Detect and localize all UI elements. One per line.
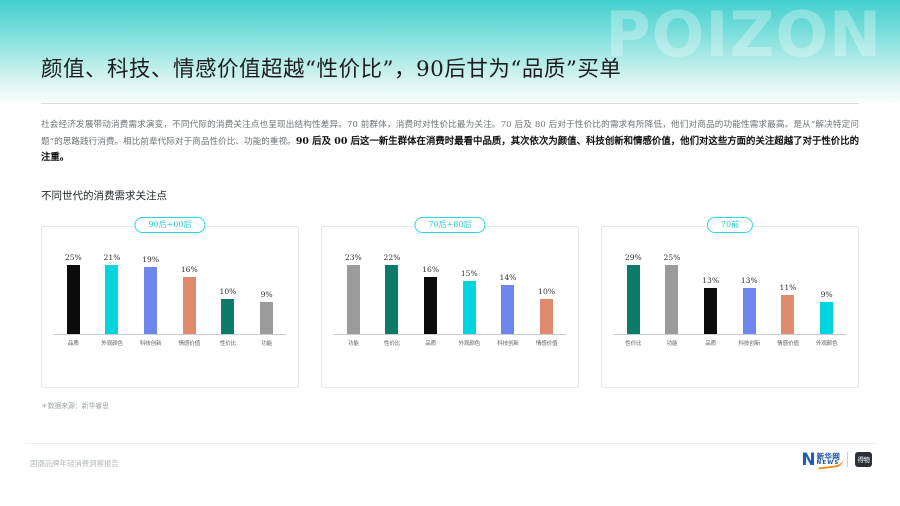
x-tick-label: 品质 <box>693 339 729 347</box>
x-axis-line-1 <box>334 334 566 335</box>
bar-value-label: 16% <box>181 265 198 274</box>
bar-rect <box>665 265 678 334</box>
x-tick-label: 性价比 <box>374 339 410 347</box>
footer-report-name: 国潮品牌年轻消费洞察报告 <box>30 458 119 469</box>
bar-value-label: 25% <box>664 253 681 262</box>
bar-rect <box>820 302 833 334</box>
bar-column: 14% <box>490 253 526 334</box>
chart-title-badge-0: 90后+00后 <box>134 217 205 233</box>
source-note: ＊数据来源：新华睿思 <box>41 400 109 410</box>
bar-column: 25% <box>654 253 690 334</box>
x-tick-label: 品质 <box>55 339 91 347</box>
bar-rect <box>540 299 553 334</box>
chart-plot-2: 29%25%13%13%11%9% 性价比功能品质科技创新情感价值外观颜色 <box>610 241 850 361</box>
bar-value-label: 14% <box>500 273 517 282</box>
bar-rect <box>743 288 756 334</box>
chart-title-badge-2: 70前 <box>707 217 753 233</box>
bar-value-label: 16% <box>422 265 439 274</box>
bar-group-1: 23%22%16%15%14%10% <box>334 253 566 334</box>
footer-divider <box>25 443 875 444</box>
x-axis-line-2 <box>614 334 846 335</box>
chart-card-90s-00s: 90后+00后 25%21%19%16%10%9% 品质外观颜色科技创新情感价值… <box>41 226 299 388</box>
x-tick-label: 科技创新 <box>490 339 526 347</box>
bar-rect <box>501 285 514 334</box>
bar-rect <box>105 265 118 334</box>
x-tick-labels-2: 性价比功能品质科技创新情感价值外观颜色 <box>614 339 846 353</box>
bar-column: 10% <box>210 253 246 334</box>
x-axis-line-0 <box>54 334 286 335</box>
bar-value-label: 13% <box>741 276 758 285</box>
bar-value-label: 10% <box>220 287 237 296</box>
chart-card-70s-80s: 70后+80后 23%22%16%15%14%10% 功能性价比品质外观颜色科技… <box>321 226 579 388</box>
x-tick-label: 外观颜色 <box>94 339 130 347</box>
bar-column: 9% <box>809 253 845 334</box>
bar-rect <box>260 302 273 334</box>
x-tick-label: 功能 <box>249 339 285 347</box>
section-heading: 不同世代的消费需求关注点 <box>41 188 167 203</box>
bar-rect <box>463 281 476 334</box>
bar-value-label: 13% <box>702 276 719 285</box>
bar-column: 21% <box>94 253 130 334</box>
bar-rect <box>627 265 640 334</box>
bar-column: 15% <box>451 253 487 334</box>
bar-value-label: 9% <box>261 290 273 299</box>
x-tick-label: 情感价值 <box>529 339 565 347</box>
logo-separator <box>847 452 848 467</box>
bar-column: 13% <box>693 253 729 334</box>
chart-title-badge-1: 70后+80后 <box>414 217 485 233</box>
bar-value-label: 15% <box>461 269 478 278</box>
x-tick-label: 情感价值 <box>770 339 806 347</box>
bar-rect <box>183 277 196 334</box>
charts-row: 90后+00后 25%21%19%16%10%9% 品质外观颜色科技创新情感价值… <box>41 226 859 391</box>
bar-column: 16% <box>413 253 449 334</box>
bar-value-label: 21% <box>104 253 121 262</box>
bar-column: 10% <box>529 253 565 334</box>
bar-column: 29% <box>615 253 651 334</box>
xinhuanet-logo: N 新华网 NEWS <box>801 453 840 467</box>
bar-rect <box>144 267 157 334</box>
x-tick-label: 性价比 <box>615 339 651 347</box>
bar-value-label: 25% <box>65 253 82 262</box>
bar-value-label: 19% <box>142 255 159 264</box>
bar-column: 23% <box>335 253 371 334</box>
bar-group-2: 29%25%13%13%11%9% <box>614 253 846 334</box>
bar-rect <box>385 265 398 334</box>
x-tick-label: 功能 <box>335 339 371 347</box>
bar-rect <box>781 295 794 334</box>
bar-rect <box>704 288 717 334</box>
chart-card-pre-70s: 70前 29%25%13%13%11%9% 性价比功能品质科技创新情感价值外观颜… <box>601 226 859 388</box>
bar-column: 25% <box>55 253 91 334</box>
x-tick-label: 功能 <box>654 339 690 347</box>
chart-plot-1: 23%22%16%15%14%10% 功能性价比品质外观颜色科技创新情感价值 <box>330 241 570 361</box>
bar-column: 13% <box>731 253 767 334</box>
bar-rect <box>347 265 360 334</box>
chart-plot-0: 25%21%19%16%10%9% 品质外观颜色科技创新情感价值性价比功能 <box>50 241 290 361</box>
bar-value-label: 9% <box>821 290 833 299</box>
bar-value-label: 11% <box>780 283 797 292</box>
bar-rect <box>67 265 80 334</box>
bar-rect <box>221 299 234 334</box>
bar-value-label: 22% <box>384 253 401 262</box>
bar-column: 9% <box>249 253 285 334</box>
bar-value-label: 29% <box>625 253 642 262</box>
bar-column: 22% <box>374 253 410 334</box>
bar-rect <box>424 277 437 334</box>
poizon-logo: 得物 <box>855 452 872 467</box>
x-tick-labels-0: 品质外观颜色科技创新情感价值性价比功能 <box>54 339 286 353</box>
bar-column: 11% <box>770 253 806 334</box>
bar-column: 16% <box>171 253 207 334</box>
x-tick-label: 性价比 <box>210 339 246 347</box>
x-tick-label: 科技创新 <box>133 339 169 347</box>
slide-header: POIZON 颜值、科技、情感价值超越“性价比”，90后甘为“品质”买单 <box>0 0 900 104</box>
xinhua-n-mark: N <box>801 453 815 467</box>
intro-paragraph: 社会经济发展带动消费需求演变，不同代际的消费关注点也呈现出结构性差异。70 前群… <box>41 118 859 167</box>
x-tick-labels-1: 功能性价比品质外观颜色科技创新情感价值 <box>334 339 566 353</box>
title-divider <box>41 103 859 104</box>
x-tick-label: 外观颜色 <box>451 339 487 347</box>
x-tick-label: 外观颜色 <box>809 339 845 347</box>
bar-value-label: 10% <box>538 287 555 296</box>
page-title: 颜值、科技、情感价值超越“性价比”，90后甘为“品质”买单 <box>41 52 621 83</box>
x-tick-label: 品质 <box>413 339 449 347</box>
poizon-watermark: POIZON <box>605 4 882 66</box>
slide-root: POIZON 颜值、科技、情感价值超越“性价比”，90后甘为“品质”买单 社会经… <box>0 0 900 506</box>
x-tick-label: 情感价值 <box>171 339 207 347</box>
bar-column: 19% <box>133 253 169 334</box>
footer-logo-group: N 新华网 NEWS 得物 <box>801 452 872 467</box>
bar-value-label: 23% <box>345 253 362 262</box>
bar-group-0: 25%21%19%16%10%9% <box>54 253 286 334</box>
x-tick-label: 科技创新 <box>731 339 767 347</box>
